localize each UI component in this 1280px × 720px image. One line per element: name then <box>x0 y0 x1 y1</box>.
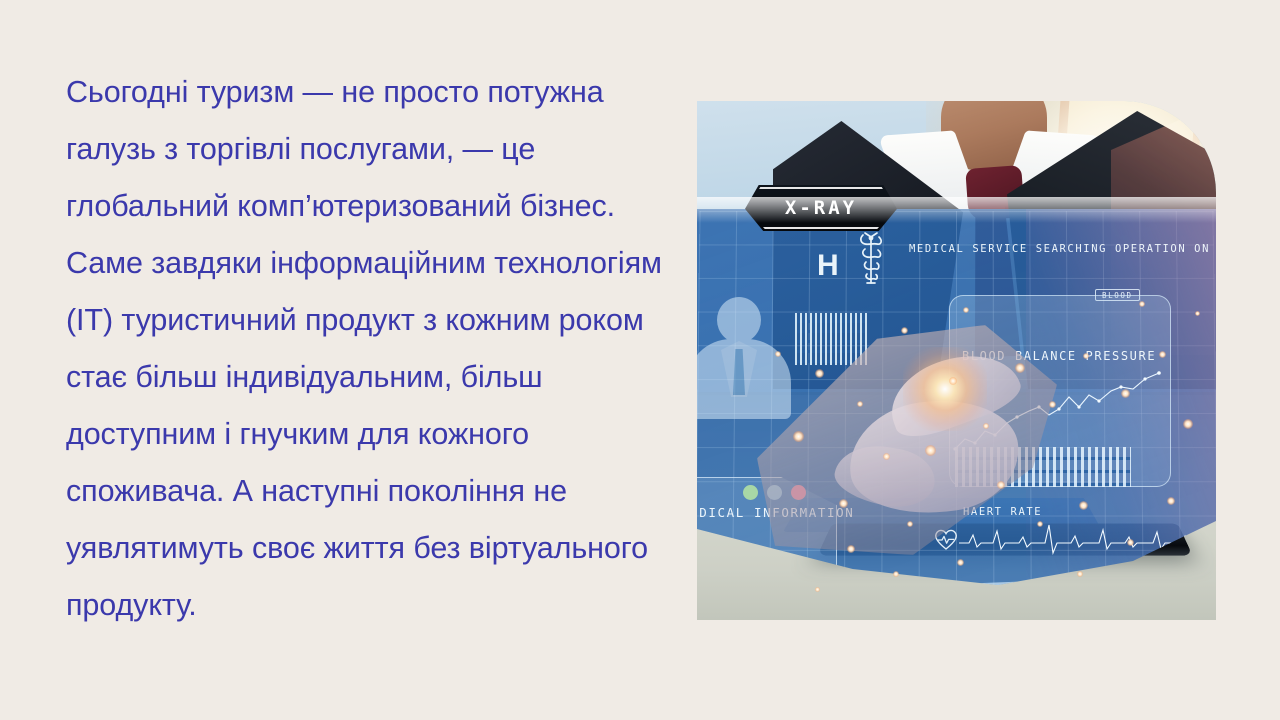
slide: Сьогодні туризм — не просто потужна галу… <box>0 0 1280 720</box>
fingertip-touch-glow <box>903 347 987 431</box>
patient-silhouette-icon <box>697 297 791 417</box>
photo-inner: H MEDICAL SERVICE SEARCHING <box>697 101 1216 620</box>
caduceus-icon <box>855 231 887 287</box>
slide-body-text: Сьогодні туризм — не просто потужна галу… <box>66 64 678 634</box>
slide-image: H MEDICAL SERVICE SEARCHING <box>697 101 1216 620</box>
hud-operation-status: MEDICAL SERVICE SEARCHING OPERATION ON 2… <box>909 243 1216 255</box>
hospital-marker-label: H <box>817 249 839 283</box>
photo-top-haze <box>697 197 1216 223</box>
dot-green-icon <box>743 485 758 500</box>
